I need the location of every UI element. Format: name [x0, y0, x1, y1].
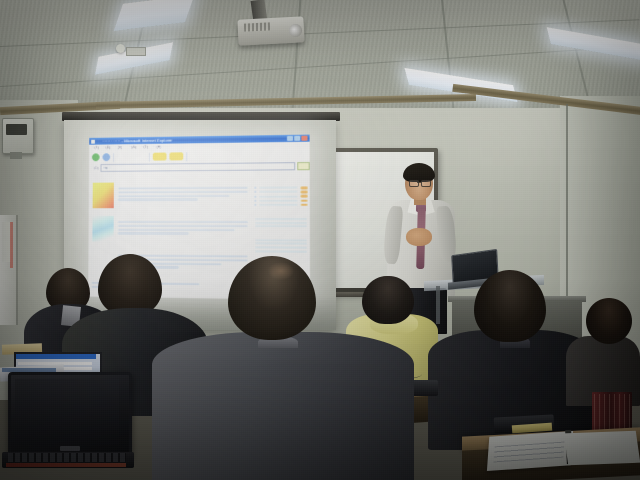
sidebar-row[interactable] [254, 186, 307, 189]
bullet-icon [254, 200, 256, 202]
article-title[interactable]: ······· ···· ···· [117, 249, 248, 254]
sidebar-heading: ···· [254, 212, 307, 216]
link-item[interactable]: ······ [109, 173, 115, 177]
article-text-line [118, 191, 249, 194]
laptop-keyboard[interactable] [8, 453, 126, 462]
table-leg [436, 286, 440, 324]
foreground-laptop-display [15, 379, 119, 445]
sidebar-row-text [254, 225, 307, 227]
sidebar-row-tag [300, 186, 307, 189]
sidebar-row-tag [300, 191, 307, 194]
print-icon[interactable] [223, 152, 231, 160]
presenter-hands [406, 228, 432, 246]
search-icon[interactable] [153, 153, 167, 161]
sidebar-row-text [254, 250, 307, 252]
bullet-icon [254, 195, 256, 197]
menu-edit[interactable]: ··(E) [103, 145, 110, 149]
back-icon[interactable] [92, 153, 100, 161]
toolbar-separator [149, 152, 150, 161]
link-item[interactable]: ····· [92, 173, 97, 177]
sidebar-row[interactable] [254, 246, 307, 248]
speaker-bracket [10, 152, 22, 159]
article-title[interactable]: ······ ····· ········ [118, 181, 249, 186]
sidebar-row-text [258, 204, 298, 206]
sidebar-heading: ····· ··· [254, 233, 307, 237]
flipchart-marker-strip [10, 222, 13, 268]
sidebar-row-tag [300, 195, 307, 198]
second-laptop-title-bar [16, 354, 96, 359]
attendee-far-right-head [586, 298, 632, 344]
address-value: http://·································… [103, 166, 148, 170]
sidebar-row-tag [300, 203, 307, 206]
attendee-left-head [98, 254, 162, 316]
open-notebook-right-page [564, 431, 640, 465]
menu-help[interactable]: ···(H) [153, 145, 161, 149]
article-title[interactable]: ···· ······· ····· [118, 215, 249, 219]
close-icon[interactable] [301, 136, 307, 141]
laptop-brand-logo [60, 446, 80, 451]
article-text-line [117, 228, 234, 230]
article-text-line [117, 232, 188, 234]
address-label: ··(D) [92, 166, 99, 170]
favorites-icon[interactable] [169, 152, 183, 160]
article-item[interactable]: ···· ······· ····· [91, 215, 248, 243]
article-text-line [118, 198, 198, 200]
refresh-icon[interactable] [128, 153, 136, 161]
sidebar-row[interactable] [254, 195, 307, 198]
ceiling-vent [126, 47, 146, 56]
toolbar-separator [113, 153, 114, 162]
sidebar-row-text [258, 191, 298, 193]
toolbar-separator [186, 152, 187, 161]
history-icon[interactable] [201, 152, 209, 160]
attendee-right-head [474, 270, 546, 342]
presenter-glasses-bridge [417, 182, 421, 183]
sidebar-row[interactable] [254, 199, 307, 202]
forward-icon[interactable] [102, 153, 110, 161]
attendee-woman-head [362, 276, 414, 324]
mail-icon[interactable] [212, 152, 220, 160]
sidebar-row[interactable] [254, 225, 307, 227]
article-text-line [118, 194, 230, 197]
sidebar-row-text [254, 218, 307, 220]
link-item[interactable]: ···· [119, 173, 123, 177]
sidebar-row-tag [300, 199, 307, 202]
sidebar-row-text [254, 222, 307, 224]
speaker-grille [6, 124, 27, 135]
bullet-icon [254, 191, 256, 193]
sidebar-row[interactable] [254, 243, 307, 245]
sidebar-heading: ··· ··· [254, 180, 307, 184]
window-controls[interactable] [287, 136, 310, 141]
edit-icon[interactable] [234, 152, 242, 160]
sidebar-row[interactable] [254, 191, 307, 194]
sidebar-row-text [258, 187, 298, 189]
sidebar-row-text [258, 195, 298, 197]
sidebar-row[interactable] [254, 239, 307, 241]
article-text-line [118, 225, 249, 227]
projector-vent [244, 22, 270, 31]
article-thumbnail-icon[interactable] [92, 182, 115, 210]
sidebar-row-text [254, 243, 307, 245]
menu-file[interactable]: ··(F) [92, 146, 99, 150]
sidebar-row[interactable] [254, 218, 307, 220]
attendee-center-body [152, 332, 414, 480]
media-icon[interactable] [190, 152, 198, 160]
presenter-hair [403, 163, 435, 182]
address-input[interactable]: http://·································… [100, 162, 295, 172]
go-button[interactable] [297, 162, 309, 170]
sidebar-row-text [254, 246, 307, 248]
sidebar-row[interactable] [254, 222, 307, 224]
sidebar-row-text [254, 239, 307, 241]
classroom-photo: ······· ····· - Microsoft Internet Explo… [0, 0, 640, 480]
menu-favorites[interactable]: ····(A) [127, 145, 136, 149]
laptop-accent-stripe [6, 463, 126, 467]
link-item[interactable]: ···· [101, 173, 105, 177]
maximize-icon[interactable] [294, 136, 300, 141]
sidebar-row[interactable] [254, 250, 307, 252]
bullet-icon [254, 187, 256, 189]
article-thumbnail-icon[interactable] [91, 215, 114, 243]
menu-tools[interactable]: ··(T) [141, 145, 148, 149]
article-text-line [118, 221, 249, 223]
ceiling-smoke-detector [116, 44, 125, 53]
glasses-icon [421, 180, 431, 187]
stop-icon[interactable] [117, 153, 125, 161]
article-item[interactable]: ······ ····· ········ [92, 181, 249, 209]
menu-view[interactable]: ··(V) [115, 145, 122, 149]
attendee-center-scalp [268, 262, 294, 280]
article-text-line [118, 187, 249, 190]
sidebar-row-text [258, 200, 298, 202]
bullet-icon [254, 204, 256, 206]
home-icon[interactable] [138, 153, 146, 161]
minimize-icon[interactable] [287, 136, 293, 141]
sidebar-row[interactable] [254, 203, 307, 206]
